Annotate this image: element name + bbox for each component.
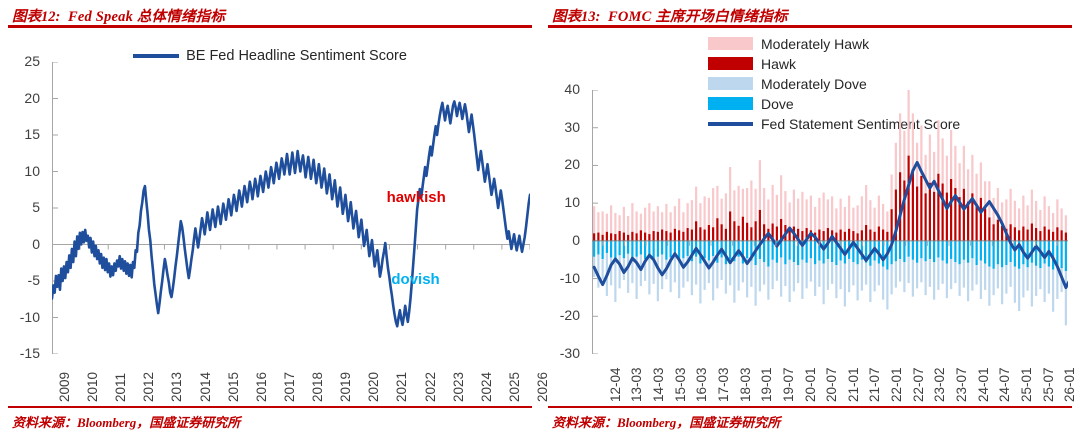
figure-12-bottom-rule — [8, 406, 532, 409]
x-tick-label: 21-07 — [867, 367, 882, 402]
fed-speak-y-axis-labels: -15-10-50510152025 — [0, 62, 48, 354]
y-tick-label: 20 — [540, 156, 580, 172]
y-tick-label: -30 — [540, 345, 580, 361]
y-tick-label: 40 — [540, 81, 580, 97]
x-tick-label: 23-02 — [932, 367, 947, 402]
figure-13-panel: 图表13: FOMC 主席开场白情绪指标 Moderately Hawk Haw… — [540, 0, 1080, 436]
y-tick-label: 25 — [0, 53, 40, 69]
y-tick-label: -20 — [540, 307, 580, 323]
fed-speak-chart-canvas — [52, 62, 530, 354]
y-tick-label: 10 — [540, 194, 580, 210]
fomc-statement-chart-canvas — [592, 90, 1068, 354]
y-tick-label: -10 — [540, 270, 580, 286]
x-tick-label: 2010 — [85, 372, 100, 402]
x-tick-label: 2025 — [507, 372, 522, 402]
x-tick-label: 22-07 — [911, 367, 926, 402]
x-tick-label: 2009 — [57, 372, 72, 402]
x-tick-label: 25-01 — [1019, 367, 1034, 402]
y-tick-label: 0 — [0, 236, 40, 252]
x-tick-label: 16-03 — [694, 367, 709, 402]
figure-13-top-rule — [548, 25, 1072, 28]
fomc-x-axis-labels: 12-0413-0314-0315-0316-0317-0318-0319-01… — [592, 356, 1068, 406]
legend-label-hawk: Hawk — [761, 56, 796, 72]
x-tick-label: 2023 — [451, 372, 466, 402]
x-tick-label: 21-01 — [846, 367, 861, 402]
fed-speak-x-axis-labels: 2009201020112012201320142015201620172018… — [52, 356, 530, 406]
figure-12-title-text: Fed Speak 总体情绪指标 — [68, 9, 225, 25]
y-tick-label: -15 — [0, 345, 40, 361]
x-tick-label: 2022 — [423, 372, 438, 402]
x-tick-label: 19-07 — [781, 367, 796, 402]
x-tick-label: 24-07 — [997, 367, 1012, 402]
figure-13-title-prefix: 图表13: — [552, 9, 600, 25]
x-tick-label: 17-03 — [716, 367, 731, 402]
x-tick-label: 2019 — [338, 372, 353, 402]
figure-12-source: 资料来源：Bloomberg，国盛证券研究所 — [12, 412, 240, 431]
x-tick-label: 2018 — [310, 372, 325, 402]
x-tick-label: 13-03 — [629, 367, 644, 402]
y-tick-label: 0 — [540, 232, 580, 248]
x-tick-label: 2021 — [394, 372, 409, 402]
x-tick-label: 2013 — [169, 372, 184, 402]
annotation-dovish: dovish — [391, 271, 439, 288]
figure-12-title: 图表12: Fed Speak 总体情绪指标 — [12, 5, 225, 26]
legend-row-moderately-hawk: Moderately Hawk — [708, 34, 960, 53]
y-tick-label: 10 — [0, 163, 40, 179]
y-tick-label: 30 — [540, 119, 580, 135]
x-tick-label: 22-01 — [889, 367, 904, 402]
x-tick-label: 25-07 — [1041, 367, 1056, 402]
figure-13-title: 图表13: FOMC 主席开场白情绪指标 — [552, 5, 788, 26]
figure-12-title-prefix: 图表12: — [12, 9, 60, 25]
x-tick-label: 15-03 — [673, 367, 688, 402]
figure-13-bottom-rule — [548, 406, 1072, 409]
y-tick-label: 15 — [0, 126, 40, 142]
legend-swatch-hawk — [708, 57, 753, 70]
fomc-y-axis-labels: -30-20-10010203040 — [540, 90, 588, 354]
legend-swatch-moderately-dove — [708, 77, 753, 90]
x-tick-label: 18-03 — [738, 367, 753, 402]
x-tick-label: 2015 — [226, 372, 241, 402]
legend-row-hawk: Hawk — [708, 54, 960, 73]
x-tick-label: 2024 — [479, 372, 494, 402]
figure-12-top-rule — [8, 25, 532, 28]
x-tick-label: 2016 — [254, 372, 269, 402]
legend-label-moderately-hawk: Moderately Hawk — [761, 36, 869, 52]
y-tick-label: -10 — [0, 309, 40, 325]
report-figures-page: 图表12: Fed Speak 总体情绪指标 BE Fed Headline S… — [0, 0, 1080, 436]
x-tick-label: 2011 — [113, 373, 128, 402]
fomc-statement-chart — [592, 90, 1068, 354]
figure-13-source: 资料来源：Bloomberg，国盛证券研究所 — [552, 412, 780, 431]
x-tick-label: 19-01 — [759, 367, 774, 402]
x-tick-label: 2014 — [198, 372, 213, 402]
fed-speak-chart — [52, 62, 530, 354]
x-tick-label: 20-01 — [803, 367, 818, 402]
x-tick-label: 12-04 — [608, 367, 623, 402]
figure-12-panel: 图表12: Fed Speak 总体情绪指标 BE Fed Headline S… — [0, 0, 540, 436]
x-tick-label: 2020 — [366, 372, 381, 402]
x-tick-label: 20-07 — [824, 367, 839, 402]
y-tick-label: -5 — [0, 272, 40, 288]
annotation-hawkish: hawkish — [387, 189, 446, 206]
x-tick-label: 24-01 — [976, 367, 991, 402]
x-tick-label: 26-01 — [1062, 367, 1077, 402]
x-tick-label: 2017 — [282, 372, 297, 402]
y-tick-label: 5 — [0, 199, 40, 215]
x-tick-label: 23-07 — [954, 367, 969, 402]
figure-13-title-text: FOMC 主席开场白情绪指标 — [608, 9, 788, 25]
legend-swatch-moderately-hawk — [708, 37, 753, 50]
x-tick-label: 14-03 — [651, 367, 666, 402]
legend-line-swatch-sentiment — [133, 54, 179, 58]
x-tick-label: 2012 — [141, 372, 156, 402]
y-tick-label: 20 — [0, 90, 40, 106]
